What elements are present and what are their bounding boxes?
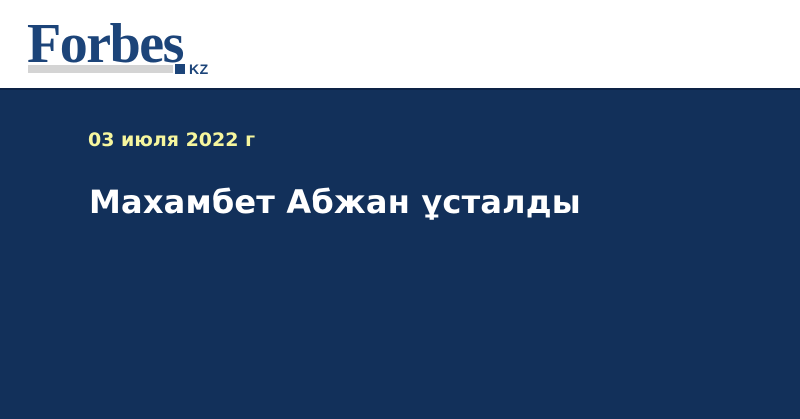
- article-hero: 03 июля 2022 г Махамбет Абжан ұсталды: [0, 88, 800, 419]
- horizontal-rule-icon: [28, 65, 173, 73]
- logo-wordmark: Forbes: [27, 16, 183, 72]
- article-title: Махамбет Абжан ұсталды: [89, 182, 729, 222]
- forbes-kz-logo[interactable]: Forbes KZ: [27, 16, 237, 78]
- article-hero-page: Forbes KZ 03 июля 2022 г Махамбет Абжан …: [0, 0, 800, 419]
- article-date: 03 июля 2022 г: [88, 129, 255, 151]
- logo-edition-label: KZ: [189, 62, 209, 76]
- site-header: Forbes KZ: [0, 0, 800, 88]
- square-bullet-icon: [175, 64, 185, 74]
